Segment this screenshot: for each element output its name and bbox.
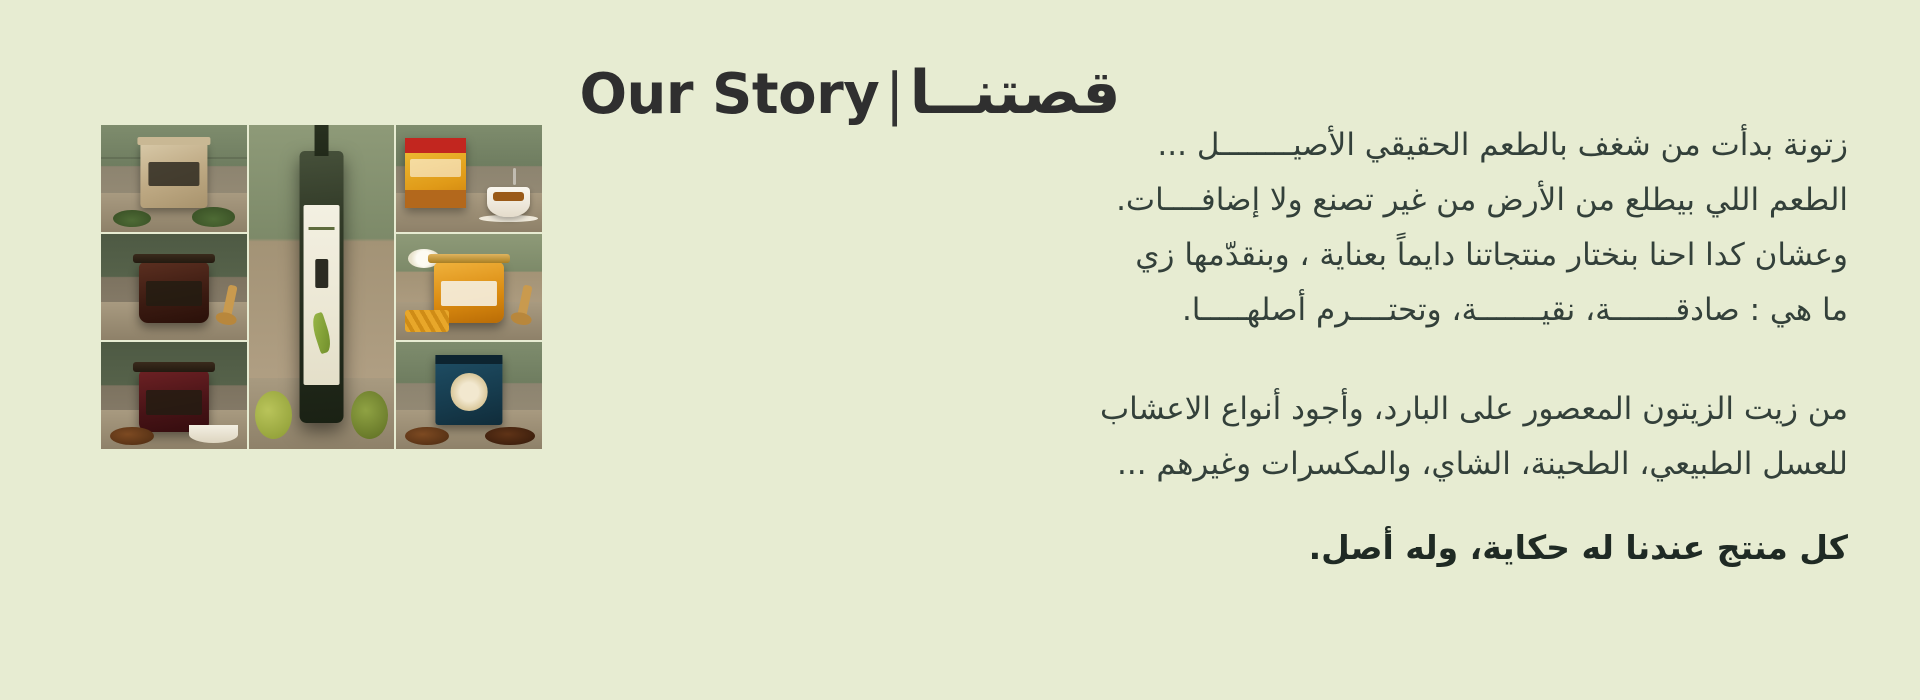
tea-box-top-band (405, 138, 466, 154)
bottle-label (303, 205, 340, 385)
story-tagline: كل منتج عندنا له حكاية، وله أصل. (948, 526, 1848, 570)
paragraph-2-line-1: من زيت الزيتون المعصور على البارد، وأجود… (948, 382, 1848, 437)
package-top-seal (435, 355, 502, 364)
page-title-english: Our Story (579, 62, 879, 127)
sahara-tea-box-photo (396, 125, 542, 232)
honey-jar-dark (139, 262, 209, 323)
dates-pile-right (485, 427, 535, 445)
energy-honey-jar-photo (101, 234, 247, 340)
herb-pouch-photo (101, 125, 247, 232)
package-emblem (450, 373, 488, 411)
olive-oil-bottle (299, 151, 344, 423)
paragraph-1-line-4: ما هي : صادقـــــــة، نقيـــــــة، وتحتـ… (948, 283, 1848, 338)
dates-pile (110, 427, 154, 445)
tea-box (405, 138, 466, 209)
dates-pile-left (405, 427, 449, 445)
jar-lid (428, 254, 509, 264)
herb-pile-right (192, 207, 236, 226)
page-title: Our Story|قصتنــا (579, 60, 1120, 126)
brand-mark (315, 259, 328, 288)
paragraph-1-line-1: زتونة بدأت من شغف بالطعم الحقيقي الأصيــ… (948, 118, 1848, 173)
story-paragraph-1: زتونة بدأت من شغف بالطعم الحقيقي الأصيــ… (948, 118, 1848, 338)
olive-oil-bottle-photo (249, 125, 394, 449)
story-text-column: زتونة بدأت من شغف بالطعم الحقيقي الأصيــ… (948, 118, 1848, 603)
jar-label (146, 390, 202, 415)
tea-box-bottom-band (405, 190, 466, 208)
paragraph-1-line-3: وعشان كدا احنا بنختار منتجاتنا دايماً بع… (948, 228, 1848, 283)
steam-wisp (513, 168, 516, 185)
tea-cup (487, 187, 531, 217)
nuts-package (435, 355, 502, 426)
paragraph-1-line-2: الطعم اللي بيطلع من الأرض من غير تصنع ول… (948, 173, 1848, 228)
pouch-package (140, 142, 207, 208)
paragraph-2-line-2: للعسل الطبيعي، الطحينة، الشاي، والمكسرات… (948, 437, 1848, 492)
olive-leaf-graphic (309, 312, 335, 354)
jar-lid (133, 254, 214, 264)
label-stripe (308, 227, 335, 230)
jar-label (441, 281, 497, 306)
story-paragraph-2: من زيت الزيتون المعصور على البارد، وأجود… (948, 382, 1848, 492)
honeycomb (405, 310, 449, 331)
date-molasses-jar-photo (101, 342, 247, 449)
molasses-jar (139, 370, 209, 432)
herb-pile-left (113, 210, 151, 227)
tea-box-window (410, 159, 462, 177)
jar-lid (133, 362, 214, 372)
jar-label (146, 281, 202, 306)
nuts-dates-pack-photo (396, 342, 542, 449)
bottle-neck (314, 125, 328, 156)
olives-right (351, 391, 389, 440)
blossom-honey-jar-photo (396, 234, 542, 340)
serving-bowl (189, 425, 239, 442)
pouch-label (148, 162, 199, 186)
product-collage (101, 125, 548, 445)
our-story-section: Our Story|قصتنــا (0, 0, 1920, 700)
title-separator: | (879, 62, 909, 127)
